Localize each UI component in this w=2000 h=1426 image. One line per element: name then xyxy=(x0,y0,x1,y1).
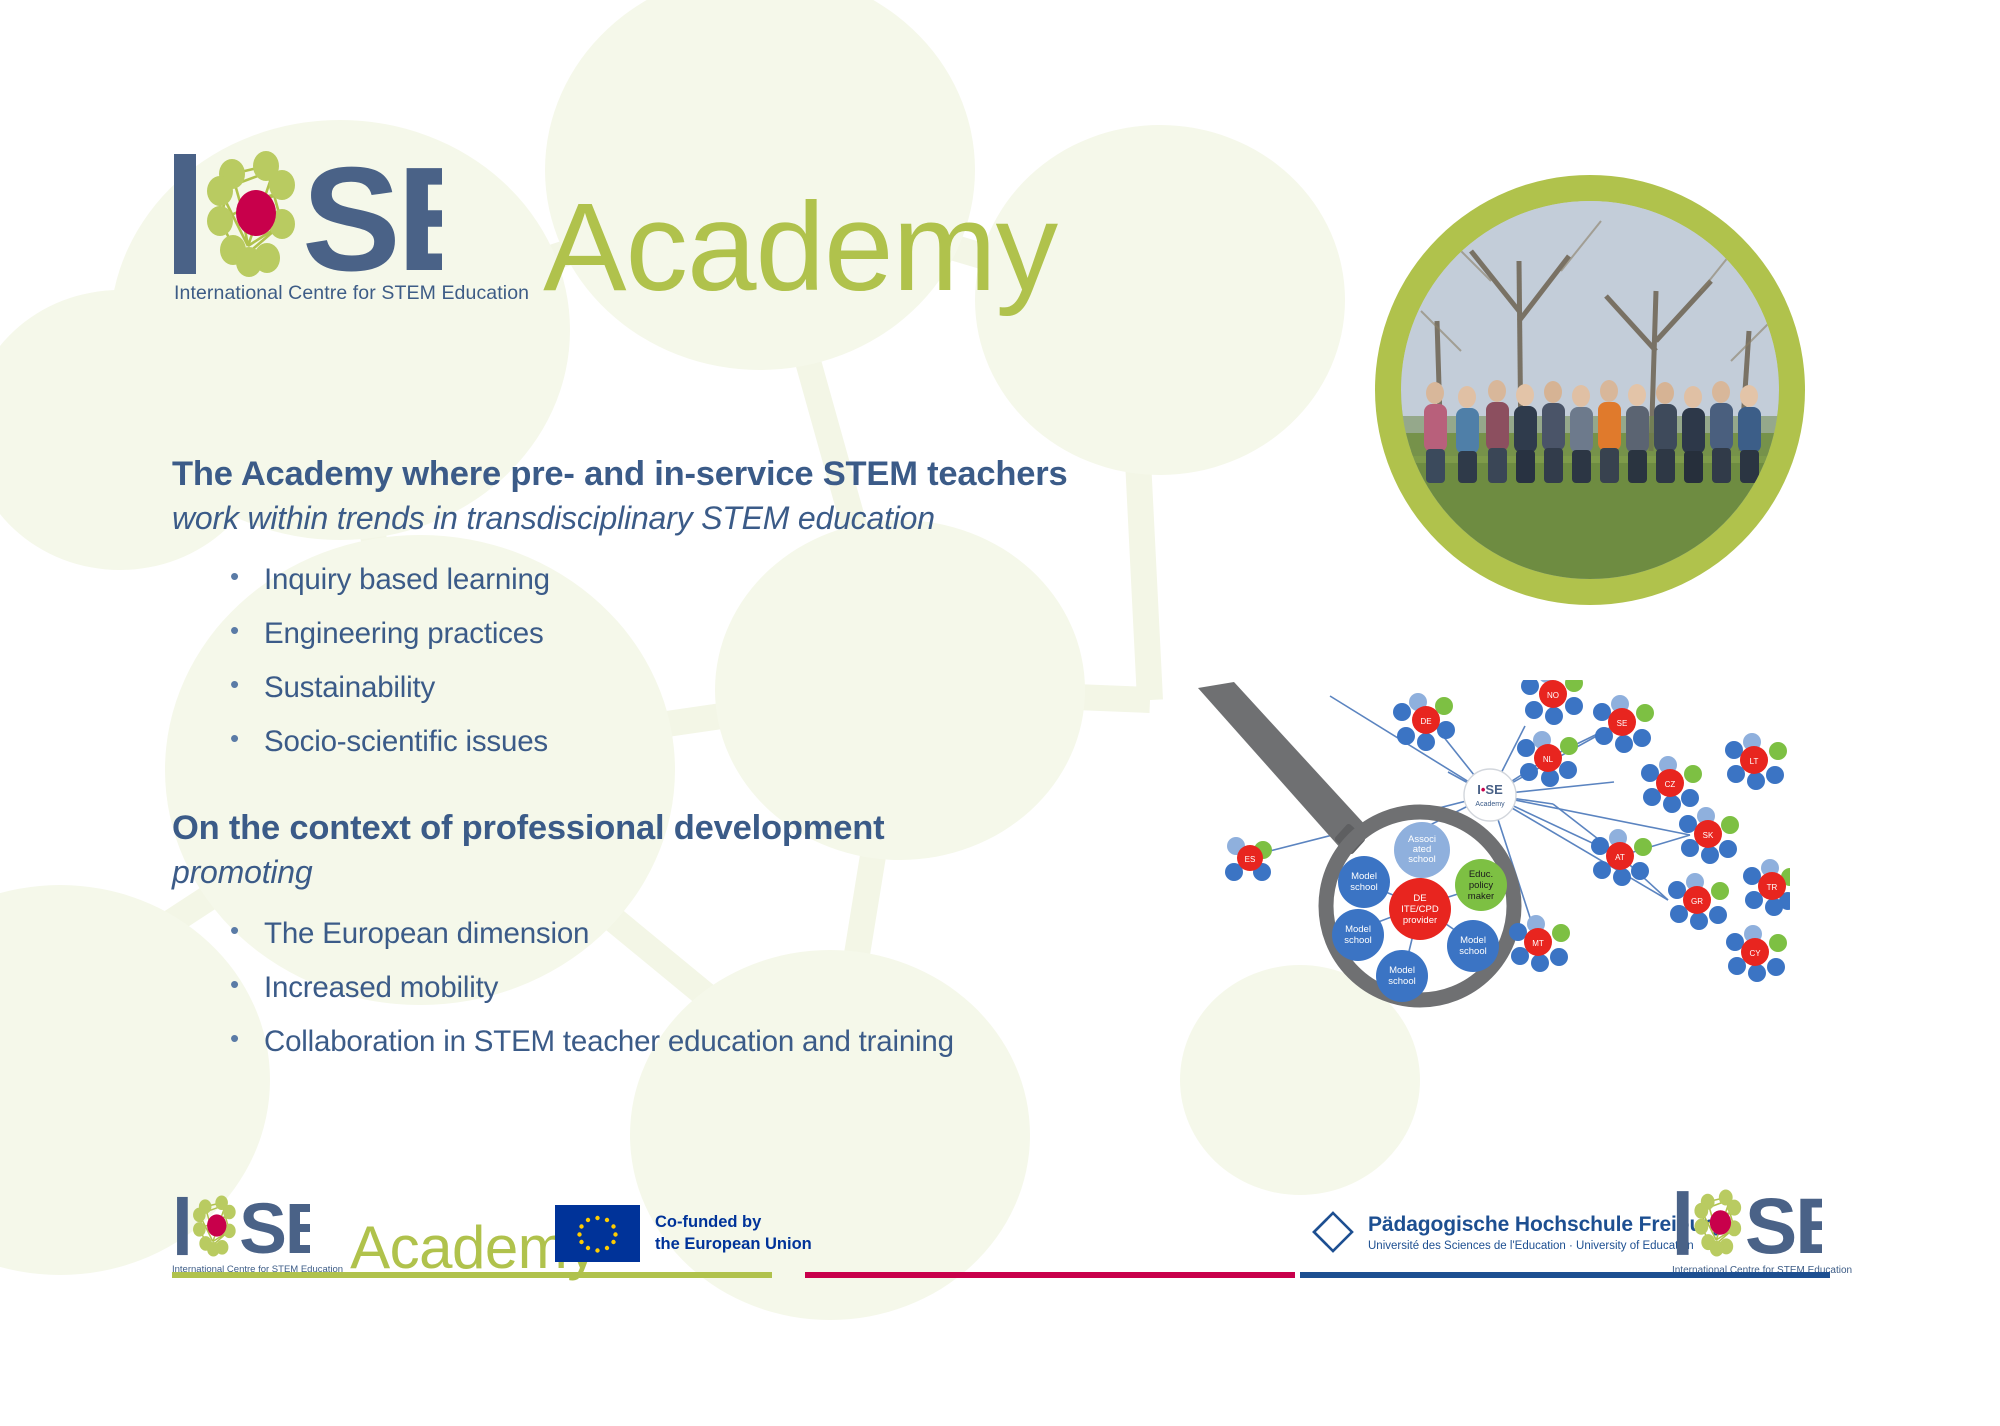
svg-text:SE: SE xyxy=(1617,719,1628,728)
svg-text:SE: SE xyxy=(302,150,442,278)
svg-text:Educ.: Educ. xyxy=(1469,869,1493,880)
svg-text:Model: Model xyxy=(1351,871,1377,882)
eu-funding-line1: Co-funded by xyxy=(655,1212,812,1234)
svg-text:SE: SE xyxy=(239,1195,310,1257)
page-header: SE International Centre for STEM Educati… xyxy=(170,150,1057,305)
list-item: Increased mobility xyxy=(230,971,1202,1005)
icse-academy-network-diagram: Associ ated school Model school Model sc… xyxy=(1190,680,1790,1040)
footer-right-icse-glyph: SE xyxy=(1672,1189,1822,1257)
section-2-subtitle: promoting xyxy=(172,854,1202,891)
main-content: The Academy where pre- and in-service ST… xyxy=(172,455,1202,1079)
section-1-subtitle: work within trends in transdisciplinary … xyxy=(172,500,1202,537)
eu-funding-badge: Co-funded by the European Union xyxy=(555,1205,812,1262)
svg-text:SE: SE xyxy=(1745,1189,1822,1257)
footer-rule-red xyxy=(805,1272,1295,1278)
section-1-title: The Academy where pre- and in-service ST… xyxy=(172,455,1202,494)
svg-text:MT: MT xyxy=(1532,939,1544,948)
svg-text:AT: AT xyxy=(1615,853,1625,862)
svg-text:CZ: CZ xyxy=(1665,780,1676,789)
svg-text:NL: NL xyxy=(1543,755,1554,764)
svg-text:maker: maker xyxy=(1468,891,1494,902)
list-item: Engineering practices xyxy=(230,617,1202,651)
svg-text:ES: ES xyxy=(1245,855,1256,864)
section-block-2: On the context of professional developme… xyxy=(172,809,1202,1059)
ph-freiburg-subtitle: Université des Sciences de l'Education ·… xyxy=(1368,1240,1723,1252)
list-item: Socio-scientific issues xyxy=(230,725,1202,759)
list-item: Sustainability xyxy=(230,671,1202,705)
svg-text:school: school xyxy=(1388,976,1415,987)
list-item: Inquiry based learning xyxy=(230,563,1202,597)
svg-text:Model: Model xyxy=(1460,935,1486,946)
academy-wordmark: Academy xyxy=(543,190,1057,305)
svg-text:NO: NO xyxy=(1547,691,1559,700)
svg-text:CY: CY xyxy=(1749,949,1761,958)
footer-rule-blue xyxy=(1300,1272,1830,1278)
svg-text:SK: SK xyxy=(1703,831,1714,840)
ph-freiburg-diamond-icon xyxy=(1310,1209,1356,1255)
svg-text:LT: LT xyxy=(1750,757,1759,766)
section-block-1: The Academy where pre- and in-service ST… xyxy=(172,455,1202,759)
eu-flag-icon xyxy=(555,1205,640,1262)
section-1-bullet-list: Inquiry based learning Engineering pract… xyxy=(230,563,1202,759)
svg-text:school: school xyxy=(1350,882,1377,893)
eu-funding-line2: the European Union xyxy=(655,1234,812,1256)
svg-text:Model: Model xyxy=(1345,924,1371,935)
footer-icse-academy-logo: SE International Centre for STEM Educati… xyxy=(172,1195,597,1275)
svg-text:ITE/CPD: ITE/CPD xyxy=(1401,904,1439,915)
svg-text:I•SE: I•SE xyxy=(1477,782,1503,797)
icse-logo: SE xyxy=(170,150,529,278)
svg-text:TR: TR xyxy=(1767,883,1778,892)
ph-freiburg-logo: Pädagogische Hochschule Freiburg Univers… xyxy=(1310,1209,1723,1255)
section-2-bullet-list: The European dimension Increased mobilit… xyxy=(230,917,1202,1059)
section-2-title: On the context of professional developme… xyxy=(172,809,1202,848)
footer-rule-green xyxy=(172,1272,772,1278)
svg-text:GR: GR xyxy=(1691,897,1703,906)
svg-text:provider: provider xyxy=(1403,915,1437,926)
svg-text:DE: DE xyxy=(1413,893,1426,904)
footer-icse-logo-right: SE International Centre for STEM Educati… xyxy=(1672,1189,1852,1276)
page-footer: SE International Centre for STEM Educati… xyxy=(0,1185,2000,1315)
svg-text:DE: DE xyxy=(1420,717,1431,726)
icse-logo-glyph: SE xyxy=(170,150,442,278)
svg-text:policy: policy xyxy=(1469,880,1494,891)
icse-logo-tagline: International Centre for STEM Education xyxy=(174,282,529,305)
diagram-hub-node: I•SE Academy xyxy=(1464,769,1516,821)
footer-icse-logo-glyph: SE xyxy=(172,1195,310,1257)
list-item: The European dimension xyxy=(230,917,1202,951)
eu-funding-text: Co-funded by the European Union xyxy=(655,1212,812,1256)
svg-text:Academy: Academy xyxy=(1475,801,1505,808)
svg-text:school: school xyxy=(1408,854,1435,865)
svg-text:Model: Model xyxy=(1389,965,1415,976)
svg-text:school: school xyxy=(1459,946,1486,957)
group-photo-circle-frame xyxy=(1375,175,1805,605)
group-photo xyxy=(1401,201,1779,579)
svg-text:school: school xyxy=(1344,935,1371,946)
list-item: Collaboration in STEM teacher education … xyxy=(230,1025,1202,1059)
ph-freiburg-name: Pädagogische Hochschule Freiburg xyxy=(1368,1213,1723,1237)
group-photo-illustration xyxy=(1401,201,1779,579)
